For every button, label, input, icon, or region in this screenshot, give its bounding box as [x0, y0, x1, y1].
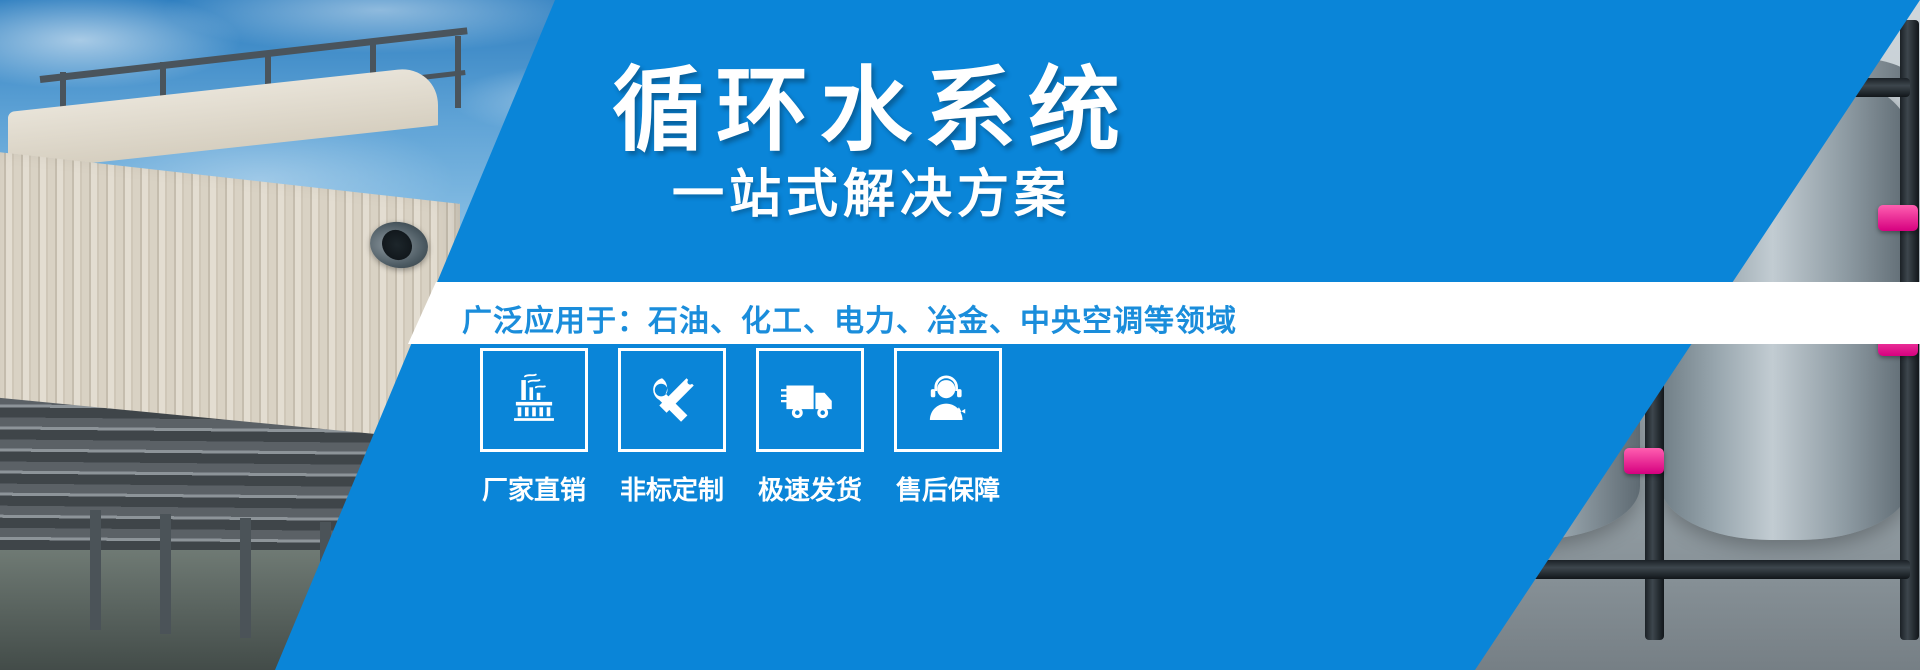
feature-label-row: 厂家直销 非标定制 极速发货 售后保障 — [480, 470, 1002, 507]
feature-label-truck: 极速发货 — [756, 470, 864, 507]
feature-label-support: 售后保障 — [894, 470, 1002, 507]
feature-item-tools[interactable] — [618, 348, 726, 452]
factory-icon — [503, 371, 565, 429]
feature-label-factory: 厂家直销 — [480, 470, 588, 507]
application-text: 广泛应用于：石油、化工、电力、冶金、中央空调等领域 — [462, 296, 1237, 340]
banner-subtitle: 一站式解决方案 — [672, 152, 1071, 227]
feature-box[interactable] — [894, 348, 1002, 452]
promo-banner: 循环水系统 一站式解决方案 广泛应用于：石油、化工、电力、冶金、中央空调等领域 — [0, 0, 1920, 670]
valve-handle — [1624, 448, 1664, 474]
banner-title: 循环水系统 — [612, 36, 1132, 169]
feature-item-factory[interactable] — [480, 348, 588, 452]
truck-icon — [779, 371, 841, 429]
support-icon — [917, 371, 979, 429]
feature-box[interactable] — [480, 348, 588, 452]
feature-label-tools: 非标定制 — [618, 470, 726, 507]
feature-box[interactable] — [618, 348, 726, 452]
feature-icon-row — [480, 348, 1002, 452]
feature-box[interactable] — [756, 348, 864, 452]
rail-post — [455, 36, 461, 108]
feature-item-truck[interactable] — [756, 348, 864, 452]
tools-icon — [641, 371, 703, 429]
feature-item-support[interactable] — [894, 348, 1002, 452]
valve-handle — [1878, 205, 1918, 231]
